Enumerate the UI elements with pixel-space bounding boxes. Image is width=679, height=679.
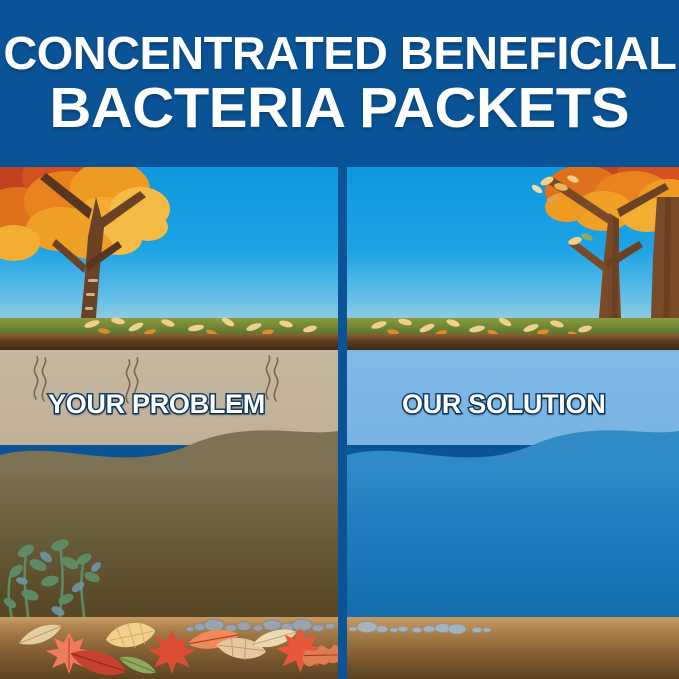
header-line-1: CONCENTRATED BENEFICIAL (3, 30, 676, 76)
bank-right (347, 334, 679, 350)
bank-left (0, 334, 338, 350)
leaf-icon (0, 622, 338, 679)
comparison-panels: YOUR PROBLEM (0, 167, 679, 679)
panel-right-label: OUR SOLUTION (402, 389, 605, 420)
poster-root: CONCENTRATED BENEFICIAL BACTERIA PACKETS (0, 0, 679, 679)
panel-our-solution: OUR SOLUTION (347, 167, 679, 679)
rock-icon (347, 607, 679, 637)
panel-left-label: YOUR PROBLEM (48, 389, 265, 420)
panel-your-problem: YOUR PROBLEM (0, 167, 338, 679)
poster-header: CONCENTRATED BENEFICIAL BACTERIA PACKETS (0, 0, 679, 167)
header-line-2: BACTERIA PACKETS (50, 80, 630, 137)
panel-divider (338, 167, 347, 679)
